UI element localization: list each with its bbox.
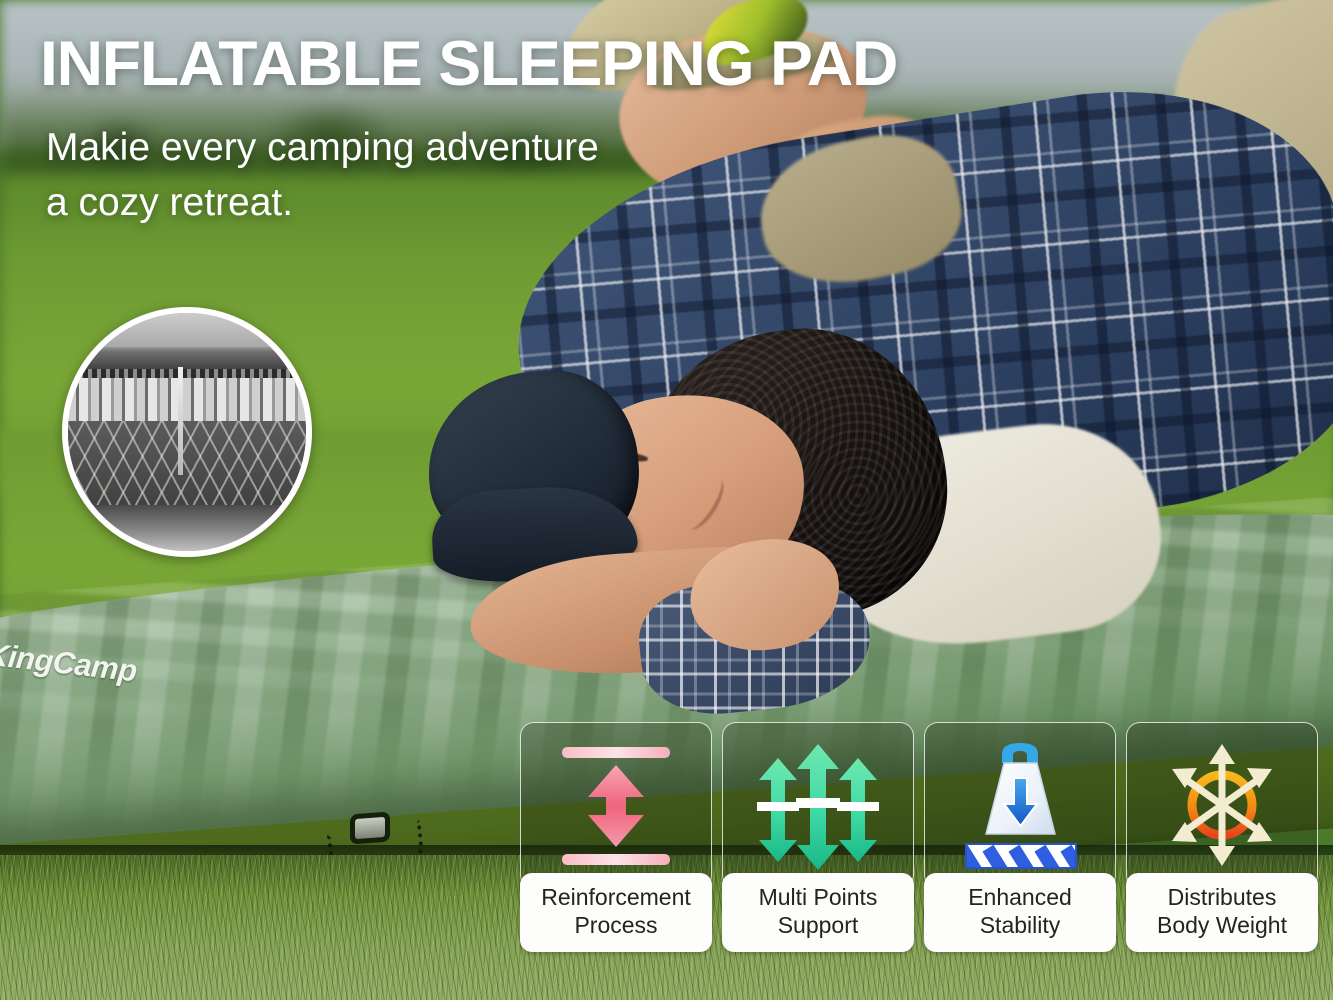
feature-badge-distributes-body-weight[interactable]: Distributes Body Weight (1126, 722, 1318, 952)
subtitle-line-1: Makie every camping adventure (46, 120, 599, 175)
subtitle: Makie every camping adventure a cozy ret… (46, 120, 599, 231)
feature-badge-reinforcement-process[interactable]: Reinforcement Process (520, 722, 712, 952)
reinforcement-icon-panel (520, 722, 712, 889)
cross-section-base-layer (62, 505, 306, 557)
cross-section-center-line (178, 367, 183, 475)
page-title: INFLATABLE SLEEPING PAD (40, 28, 897, 100)
feature-badge-enhanced-stability[interactable]: Enhanced Stability (924, 722, 1116, 952)
triple-double-arrow-icon (753, 740, 883, 872)
product-banner: KingCamp INFLATABLE SLEEPING PAD Makie e… (0, 0, 1333, 1000)
radiating-arrows-ring-icon (1155, 738, 1290, 873)
multi-points-icon-panel (722, 722, 914, 889)
multi-points-label-line-2: Support (728, 912, 908, 940)
enhanced-stability-label-line-2: Stability (930, 912, 1110, 940)
distributes-weight-icon-panel (1126, 722, 1318, 889)
enhanced-stability-icon-panel (924, 722, 1116, 889)
reinforcement-label-line-1: Reinforcement (526, 884, 706, 912)
vertical-double-arrow-between-plates-icon (556, 741, 676, 871)
feature-badge-row: Reinforcement Process (520, 722, 1318, 952)
distributes-weight-label-line-2: Body Weight (1132, 912, 1312, 940)
cross-section-mesh (62, 421, 306, 513)
feature-badge-multi-points-support[interactable]: Multi Points Support (722, 722, 914, 952)
reinforcement-label-line-2: Process (526, 912, 706, 940)
distributes-weight-label: Distributes Body Weight (1126, 873, 1318, 952)
cross-section-core-cells (62, 369, 306, 421)
cross-section-image (62, 307, 312, 557)
weight-on-striped-base-icon (958, 738, 1083, 873)
subtitle-line-2: a cozy retreat. (46, 175, 599, 230)
enhanced-stability-label-line-1: Enhanced (930, 884, 1110, 912)
multi-points-label-line-1: Multi Points (728, 884, 908, 912)
cross-section-top-layer (62, 307, 306, 347)
multi-points-label: Multi Points Support (722, 873, 914, 952)
enhanced-stability-label: Enhanced Stability (924, 873, 1116, 952)
distributes-weight-label-line-1: Distributes (1132, 884, 1312, 912)
pad-cross-section-inset (62, 307, 312, 557)
reinforcement-label: Reinforcement Process (520, 873, 712, 952)
